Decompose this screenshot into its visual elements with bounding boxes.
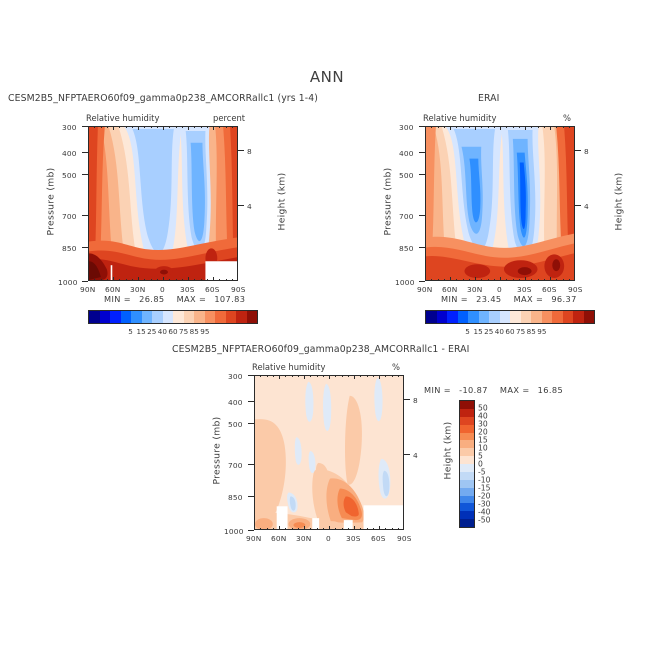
colorbar-tick-0: 5 bbox=[128, 327, 133, 336]
axis-tick bbox=[273, 528, 274, 530]
xtick-obs-6: 90S bbox=[568, 285, 583, 294]
axis-tick bbox=[317, 375, 318, 377]
axis-tick bbox=[348, 528, 349, 530]
axis-tick bbox=[151, 126, 152, 128]
axis-tick bbox=[519, 126, 520, 128]
axis-tick bbox=[538, 126, 539, 128]
colorbar-absolute-model[interactable] bbox=[88, 310, 258, 324]
panel-obs-units-label: % bbox=[563, 113, 571, 123]
axis-tick bbox=[188, 126, 189, 130]
colorbar-tick-2: 25 bbox=[484, 327, 493, 336]
axis-tick bbox=[431, 279, 432, 281]
plot-obs[interactable] bbox=[425, 126, 575, 281]
axis-tick bbox=[232, 279, 233, 281]
axis-tick bbox=[373, 528, 374, 530]
axis-tick bbox=[292, 375, 293, 377]
axis-tick bbox=[538, 279, 539, 281]
colorbar-tick-4: 60 bbox=[168, 327, 177, 336]
colorbar-cell-4 bbox=[468, 311, 479, 323]
ytick-obs-1: 400 bbox=[399, 149, 414, 158]
axis-tick bbox=[119, 126, 120, 128]
yaxis-title-obs: Pressure (mb) bbox=[383, 157, 394, 247]
axis-tick bbox=[531, 126, 532, 128]
axis-tick bbox=[169, 126, 170, 128]
diff-colorbar-cell-2 bbox=[460, 417, 474, 425]
axis-tick bbox=[438, 126, 439, 128]
y2tick-model-1: 4 bbox=[247, 202, 252, 211]
colorbar-tick-0: 5 bbox=[465, 327, 470, 336]
axis-tick bbox=[444, 126, 445, 128]
axis-tick bbox=[550, 277, 551, 281]
axis-tick bbox=[335, 528, 336, 530]
axis-tick bbox=[267, 375, 268, 377]
colorbar-tick-5: 75 bbox=[179, 327, 188, 336]
axis-tick bbox=[469, 126, 470, 128]
diff-colorbar-cell-6 bbox=[460, 448, 474, 456]
xtick-model-2: 30N bbox=[130, 285, 146, 294]
axis-tick bbox=[101, 279, 102, 281]
colorbar-cell-5 bbox=[142, 311, 153, 323]
diff-colorbar-cell-8 bbox=[460, 464, 474, 472]
panel-model-variable-label: Relative humidity bbox=[86, 113, 159, 123]
diff-colorbar-cell-3 bbox=[460, 425, 474, 433]
panel-difference-variable-label: Relative humidity bbox=[252, 362, 325, 372]
max-label-obs: MAX = bbox=[514, 294, 544, 304]
axis-tick bbox=[213, 277, 214, 281]
axis-tick bbox=[500, 277, 501, 281]
ytick-diff-1: 400 bbox=[228, 398, 243, 407]
colorbar-cell-15 bbox=[247, 311, 258, 323]
max-value-difference: 16.85 bbox=[538, 385, 563, 395]
axis-tick bbox=[323, 375, 324, 377]
panel-title-obs: ERAI bbox=[478, 93, 499, 104]
axis-tick bbox=[335, 375, 336, 377]
max-value-obs: 96.37 bbox=[551, 294, 576, 304]
axis-tick bbox=[438, 279, 439, 281]
axis-tick bbox=[219, 126, 220, 128]
figure-canvas: ANN CESM2B5_NFPTAERO60f09_gamma0p238_AMC… bbox=[0, 0, 654, 654]
colorbar-cell-8 bbox=[173, 311, 184, 323]
axis-tick bbox=[513, 279, 514, 281]
colorbar-tick-6: 85 bbox=[190, 327, 199, 336]
colorbar-cell-3 bbox=[121, 311, 132, 323]
axis-tick bbox=[475, 277, 476, 281]
axis-tick bbox=[392, 375, 393, 377]
panel-difference-units-label: % bbox=[392, 362, 400, 372]
ytick-diff-3: 700 bbox=[228, 461, 243, 470]
axis-tick bbox=[463, 279, 464, 281]
axis-tick bbox=[456, 126, 457, 128]
xtick-model-1: 60N bbox=[105, 285, 121, 294]
colorbar-cell-10 bbox=[531, 311, 542, 323]
colorbar-cell-14 bbox=[573, 311, 584, 323]
axis-tick bbox=[385, 375, 386, 377]
ytick-obs-5: 1000 bbox=[395, 278, 415, 287]
axis-tick bbox=[260, 375, 261, 377]
axis-tick bbox=[285, 375, 286, 377]
axis-tick bbox=[450, 277, 451, 281]
xtick-obs-3: 0 bbox=[497, 285, 502, 294]
xtick-diff-5: 60S bbox=[371, 534, 386, 543]
axis-tick bbox=[569, 279, 570, 281]
colorbar-cell-12 bbox=[215, 311, 226, 323]
diff-colorbar-cell-14 bbox=[460, 511, 474, 519]
axis-tick bbox=[488, 279, 489, 281]
colorbar-cell-12 bbox=[552, 311, 563, 323]
colorbar-tick-1: 15 bbox=[137, 327, 146, 336]
xtick-obs-1: 60N bbox=[442, 285, 458, 294]
axis-tick bbox=[431, 126, 432, 128]
panel-title-difference: CESM2B5_NFPTAERO60f09_gamma0p238_AMCORRa… bbox=[172, 344, 469, 355]
axis-tick bbox=[285, 528, 286, 530]
colorbar-tick-3: 40 bbox=[158, 327, 167, 336]
axis-tick bbox=[267, 528, 268, 530]
axis-tick bbox=[107, 279, 108, 281]
axis-tick bbox=[279, 375, 280, 379]
axis-tick bbox=[201, 279, 202, 281]
axis-tick bbox=[329, 526, 330, 530]
diff-colorbar-cell-13 bbox=[460, 503, 474, 511]
ytick-diff-5: 1000 bbox=[224, 527, 244, 536]
axis-tick bbox=[398, 528, 399, 530]
colorbar-absolute-model-labels: 515254060758595 bbox=[88, 327, 258, 337]
ytick-model-0: 300 bbox=[62, 123, 77, 132]
ytick-model-3: 700 bbox=[62, 212, 77, 221]
axis-tick bbox=[273, 375, 274, 377]
axis-tick bbox=[525, 126, 526, 130]
contour-field-difference bbox=[255, 376, 403, 529]
axis-tick bbox=[342, 375, 343, 377]
axis-tick bbox=[317, 528, 318, 530]
colorbar-tick-7: 95 bbox=[537, 327, 546, 336]
axis-tick bbox=[531, 279, 532, 281]
axis-tick bbox=[292, 528, 293, 530]
xtick-diff-4: 30S bbox=[346, 534, 361, 543]
axis-tick bbox=[304, 526, 305, 530]
axis-tick bbox=[379, 375, 380, 379]
colorbar-tick-1: 15 bbox=[474, 327, 483, 336]
axis-tick bbox=[569, 126, 570, 128]
axis-tick bbox=[494, 126, 495, 128]
axis-tick bbox=[310, 375, 311, 377]
axis-tick bbox=[550, 126, 551, 130]
axis-tick bbox=[360, 375, 361, 377]
xtick-diff-2: 30N bbox=[296, 534, 312, 543]
axis-tick bbox=[163, 126, 164, 130]
colorbar-cell-1 bbox=[437, 311, 448, 323]
y2tick-obs-0: 8 bbox=[584, 147, 589, 156]
axis-tick bbox=[494, 279, 495, 281]
axis-tick bbox=[450, 126, 451, 130]
axis-tick bbox=[260, 528, 261, 530]
axis-tick bbox=[144, 279, 145, 281]
colorbar-cell-9 bbox=[184, 311, 195, 323]
axis-tick bbox=[456, 279, 457, 281]
yaxis-title-model: Pressure (mb) bbox=[46, 157, 57, 247]
ytick-model-1: 400 bbox=[62, 149, 77, 158]
colorbar-tick-2: 25 bbox=[147, 327, 156, 336]
axis-tick bbox=[219, 279, 220, 281]
figure-season-title: ANN bbox=[0, 68, 654, 86]
axis-tick bbox=[367, 528, 368, 530]
colorbar-cell-6 bbox=[152, 311, 163, 323]
diff-colorbar-cell-15 bbox=[460, 519, 474, 527]
ytick-obs-2: 500 bbox=[399, 171, 414, 180]
ytick-model-2: 500 bbox=[62, 171, 77, 180]
axis-tick bbox=[157, 126, 158, 128]
ytick-diff-4: 850 bbox=[228, 493, 243, 502]
colorbar-cell-4 bbox=[131, 311, 142, 323]
axis-tick bbox=[304, 375, 305, 379]
y2tick-obs-1: 4 bbox=[584, 202, 589, 211]
axis-tick bbox=[201, 126, 202, 128]
axis-tick bbox=[226, 126, 227, 128]
axis-tick bbox=[488, 126, 489, 128]
axis-tick bbox=[176, 126, 177, 128]
colorbar-tick-7: 95 bbox=[200, 327, 209, 336]
colorbar-cell-9 bbox=[521, 311, 532, 323]
axis-tick bbox=[354, 375, 355, 379]
colorbar-cell-11 bbox=[542, 311, 553, 323]
xtick-diff-6: 90S bbox=[397, 534, 412, 543]
colorbar-cell-5 bbox=[479, 311, 490, 323]
axis-tick bbox=[176, 279, 177, 281]
colorbar-cell-2 bbox=[110, 311, 121, 323]
colorbar-absolute-obs[interactable] bbox=[425, 310, 595, 324]
minmax-obs: MIN = 23.45 MAX = 96.37 bbox=[441, 294, 577, 304]
contour-field-obs bbox=[426, 127, 574, 280]
axis-tick bbox=[398, 375, 399, 377]
colorbar-tick-3: 40 bbox=[495, 327, 504, 336]
axis-tick bbox=[385, 528, 386, 530]
xtick-diff-3: 0 bbox=[326, 534, 331, 543]
panel-title-model: CESM2B5_NFPTAERO60f09_gamma0p238_AMCORRa… bbox=[8, 93, 318, 104]
axis-tick bbox=[506, 126, 507, 128]
diff-colorbar-cell-1 bbox=[460, 409, 474, 417]
colorbar-cell-10 bbox=[194, 311, 205, 323]
axis-tick bbox=[132, 126, 133, 128]
min-value-model: 26.85 bbox=[139, 294, 164, 304]
axis-tick bbox=[113, 126, 114, 130]
y2tick-diff-1: 4 bbox=[413, 451, 418, 460]
xtick-model-0: 90N bbox=[80, 285, 96, 294]
colorbar-cell-1 bbox=[100, 311, 111, 323]
colorbar-tick-5: 75 bbox=[516, 327, 525, 336]
axis-tick bbox=[310, 528, 311, 530]
axis-tick bbox=[367, 375, 368, 377]
axis-tick bbox=[298, 375, 299, 377]
axis-tick bbox=[119, 279, 120, 281]
diff-colorbar-cell-12 bbox=[460, 496, 474, 504]
axis-tick bbox=[298, 528, 299, 530]
ytick-diff-2: 500 bbox=[228, 420, 243, 429]
xtick-obs-0: 90N bbox=[417, 285, 433, 294]
diff-colorbar-cell-0 bbox=[460, 401, 474, 409]
axis-tick bbox=[279, 526, 280, 530]
diff-colorbar-cell-10 bbox=[460, 480, 474, 488]
axis-tick bbox=[138, 126, 139, 130]
minmax-model: MIN = 26.85 MAX = 107.83 bbox=[104, 294, 245, 304]
axis-tick bbox=[513, 126, 514, 128]
axis-tick bbox=[342, 528, 343, 530]
axis-tick bbox=[360, 528, 361, 530]
axis-tick bbox=[182, 279, 183, 281]
panel-model-units-label: percent bbox=[213, 113, 245, 123]
colorbar-tick-6: 85 bbox=[527, 327, 536, 336]
diff-colorbar-cell-11 bbox=[460, 488, 474, 496]
colorbar-absolute-obs-labels: 515254060758595 bbox=[425, 327, 595, 337]
min-label-difference: MIN = bbox=[424, 385, 451, 395]
axis-tick bbox=[232, 126, 233, 128]
minmax-difference: MIN = -10.87 MAX = 16.85 bbox=[424, 385, 563, 395]
axis-tick bbox=[329, 375, 330, 379]
axis-tick bbox=[188, 277, 189, 281]
axis-tick bbox=[213, 126, 214, 130]
colorbar-cell-13 bbox=[226, 311, 237, 323]
axis-tick bbox=[544, 126, 545, 128]
xtick-model-4: 30S bbox=[180, 285, 195, 294]
axis-tick bbox=[107, 126, 108, 128]
diff-colorbar-cell-4 bbox=[460, 433, 474, 441]
max-value-model: 107.83 bbox=[214, 294, 245, 304]
axis-tick bbox=[94, 126, 95, 128]
ytick-model-5: 1000 bbox=[58, 278, 78, 287]
xtick-diff-1: 60N bbox=[271, 534, 287, 543]
xtick-model-6: 90S bbox=[231, 285, 246, 294]
axis-tick bbox=[563, 126, 564, 128]
xtick-model-3: 0 bbox=[160, 285, 165, 294]
axis-tick bbox=[157, 279, 158, 281]
axis-tick bbox=[463, 126, 464, 128]
panel-obs-variable-label: Relative humidity bbox=[423, 113, 496, 123]
y2axis-title-obs: Height (km) bbox=[614, 157, 625, 247]
contour-field-model bbox=[89, 127, 237, 280]
axis-tick bbox=[556, 279, 557, 281]
axis-tick bbox=[132, 279, 133, 281]
axis-tick bbox=[144, 126, 145, 128]
axis-tick bbox=[519, 279, 520, 281]
axis-tick bbox=[354, 526, 355, 530]
axis-tick bbox=[525, 277, 526, 281]
axis-tick bbox=[392, 528, 393, 530]
ytick-diff-0: 300 bbox=[228, 372, 243, 381]
colorbar-tick-4: 60 bbox=[505, 327, 514, 336]
axis-tick bbox=[323, 528, 324, 530]
ytick-obs-3: 700 bbox=[399, 212, 414, 221]
max-label-model: MAX = bbox=[177, 294, 207, 304]
plot-difference[interactable] bbox=[254, 375, 404, 530]
colorbar-cell-13 bbox=[563, 311, 574, 323]
y2axis-title-model: Height (km) bbox=[277, 157, 288, 247]
axis-tick bbox=[469, 279, 470, 281]
xtick-diff-0: 90N bbox=[246, 534, 262, 543]
axis-tick bbox=[151, 279, 152, 281]
colorbar-cell-14 bbox=[236, 311, 247, 323]
yaxis-title-difference: Pressure (mb) bbox=[212, 406, 223, 496]
diff-colorbar-cell-7 bbox=[460, 456, 474, 464]
axis-tick bbox=[138, 277, 139, 281]
ytick-obs-4: 850 bbox=[399, 244, 414, 253]
colorbar-cell-15 bbox=[584, 311, 595, 323]
axis-tick bbox=[444, 279, 445, 281]
max-label-difference: MAX = bbox=[500, 385, 530, 395]
axis-tick bbox=[113, 277, 114, 281]
colorbar-difference-labels: 50403020151050-5-10-15-20-30-40-50 bbox=[478, 400, 512, 528]
axis-tick bbox=[481, 126, 482, 128]
axis-tick bbox=[101, 126, 102, 128]
xtick-obs-4: 30S bbox=[517, 285, 532, 294]
ytick-model-4: 850 bbox=[62, 244, 77, 253]
diff-colorbar-tick-14: -50 bbox=[478, 516, 490, 525]
axis-tick bbox=[94, 279, 95, 281]
axis-tick bbox=[475, 126, 476, 130]
diff-colorbar-cell-5 bbox=[460, 440, 474, 448]
colorbar-cell-11 bbox=[205, 311, 216, 323]
axis-tick bbox=[207, 279, 208, 281]
colorbar-cell-8 bbox=[510, 311, 521, 323]
axis-tick bbox=[207, 126, 208, 128]
axis-tick bbox=[163, 277, 164, 281]
min-value-difference: -10.87 bbox=[459, 385, 488, 395]
plot-model[interactable] bbox=[88, 126, 238, 281]
colorbar-cell-0 bbox=[89, 311, 100, 323]
colorbar-cell-2 bbox=[447, 311, 458, 323]
axis-tick bbox=[169, 279, 170, 281]
colorbar-cell-0 bbox=[426, 311, 437, 323]
axis-tick bbox=[544, 279, 545, 281]
axis-tick bbox=[556, 126, 557, 128]
axis-tick bbox=[379, 526, 380, 530]
axis-tick bbox=[182, 126, 183, 128]
colorbar-cell-6 bbox=[489, 311, 500, 323]
colorbar-difference[interactable] bbox=[459, 400, 475, 528]
axis-tick bbox=[481, 279, 482, 281]
colorbar-cell-3 bbox=[458, 311, 469, 323]
min-label-obs: MIN = bbox=[441, 294, 468, 304]
xtick-obs-2: 30N bbox=[467, 285, 483, 294]
xtick-obs-5: 60S bbox=[542, 285, 557, 294]
y2tick-diff-0: 8 bbox=[413, 396, 418, 405]
y2tick-model-0: 8 bbox=[247, 147, 252, 156]
diff-colorbar-cell-9 bbox=[460, 472, 474, 480]
axis-tick bbox=[126, 126, 127, 128]
colorbar-cell-7 bbox=[163, 311, 174, 323]
min-value-obs: 23.45 bbox=[476, 294, 501, 304]
xtick-model-5: 60S bbox=[205, 285, 220, 294]
colorbar-cell-7 bbox=[500, 311, 511, 323]
axis-tick bbox=[226, 279, 227, 281]
axis-tick bbox=[348, 375, 349, 377]
axis-tick bbox=[563, 279, 564, 281]
axis-tick bbox=[506, 279, 507, 281]
axis-tick bbox=[373, 375, 374, 377]
axis-tick bbox=[126, 279, 127, 281]
axis-tick bbox=[194, 279, 195, 281]
min-label-model: MIN = bbox=[104, 294, 131, 304]
y2axis-title-difference: Height (km) bbox=[443, 406, 454, 496]
axis-tick bbox=[194, 126, 195, 128]
ytick-obs-0: 300 bbox=[399, 123, 414, 132]
axis-tick bbox=[500, 126, 501, 130]
